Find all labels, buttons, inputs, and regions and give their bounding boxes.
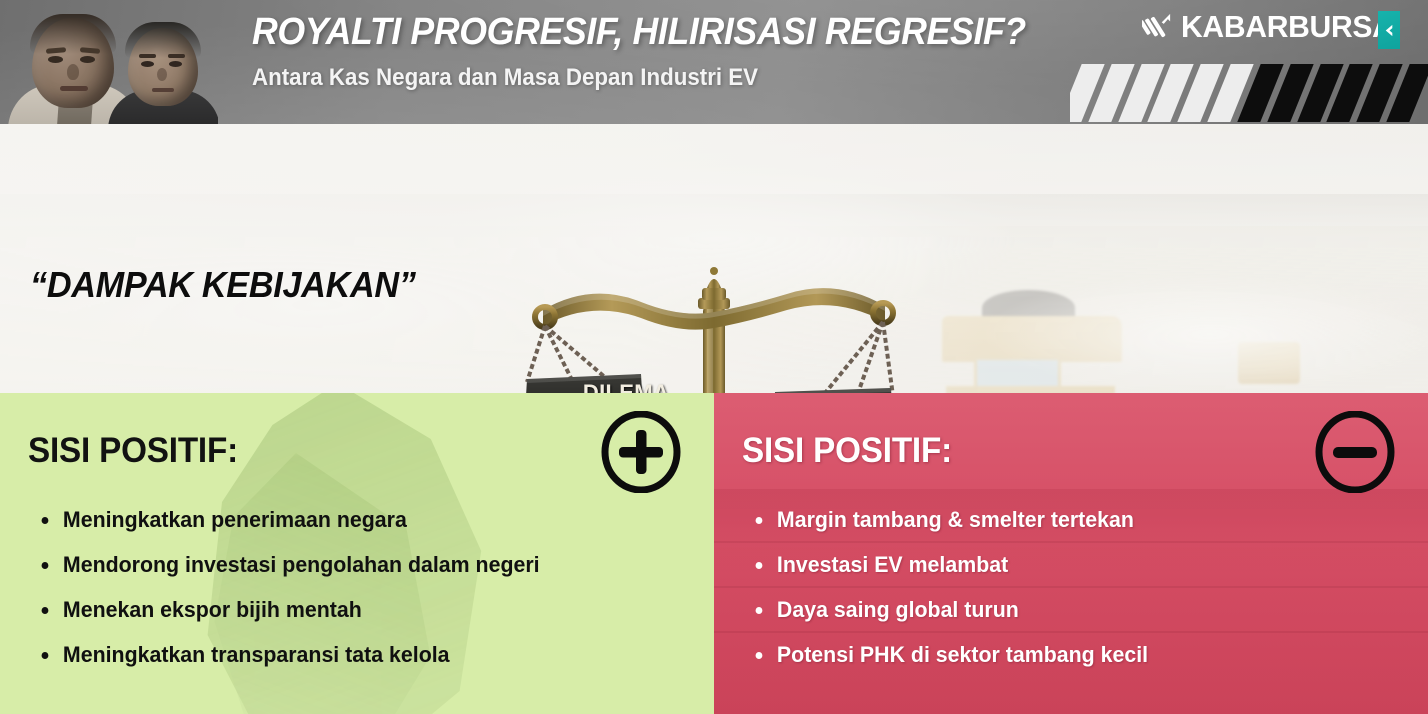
infographic-root: ROYALTI PROGRESIF, HILIRISASI REGRESIF? … xyxy=(0,0,1428,714)
header-band: ROYALTI PROGRESIF, HILIRISASI REGRESIF? … xyxy=(0,0,1428,124)
portrait-official-two xyxy=(112,6,214,124)
comparison-panels: SISI POSITIF: Meningkatkan penerimaan ne… xyxy=(0,393,1428,714)
balance-scale-icon: DILEMA FISKAL DAYA SAING xyxy=(521,264,907,393)
list-item: Investasi EV melambat xyxy=(742,552,1378,578)
plus-circle-icon xyxy=(600,411,682,493)
chevron-left-icon xyxy=(1382,23,1397,38)
list-item: Menekan ekspor bijih mentah xyxy=(28,597,664,623)
list-item: Potensi PHK di sektor tambang kecil xyxy=(742,642,1378,668)
panel-negative-bullets: Margin tambang & smelter tertekan Invest… xyxy=(742,507,1398,668)
panel-negative: SISI POSITIF: Margin tambang & smelter t… xyxy=(714,393,1428,714)
scale-left-pan-label: DILEMA FISKAL xyxy=(556,382,696,393)
panel-negative-heading: SISI POSITIF: xyxy=(742,431,1365,471)
list-item: Meningkatkan penerimaan negara xyxy=(28,507,664,533)
scale-left-line-1: DILEMA xyxy=(556,382,696,393)
brand-name: KABARBURSA xyxy=(1181,9,1394,45)
list-item: Meningkatkan transparansi tata kelola xyxy=(28,642,664,668)
minus-circle-icon xyxy=(1314,411,1396,493)
panel-positive-heading: SISI POSITIF: xyxy=(28,431,651,471)
portraits-group xyxy=(0,0,218,124)
section-quote: “DAMPAK KEBIJAKAN” xyxy=(30,264,416,306)
kabarbursa-arrow-bars-icon xyxy=(1142,12,1172,42)
list-item: Margin tambang & smelter tertekan xyxy=(742,507,1378,533)
brand-logo[interactable]: KABARBURSA xyxy=(1142,9,1400,45)
brand-chip[interactable] xyxy=(1378,11,1400,49)
middle-band: “DAMPAK KEBIJAKAN” xyxy=(0,124,1428,393)
page-title: ROYALTI PROGRESIF, HILIRISASI REGRESIF? xyxy=(252,10,976,56)
header-titles: ROYALTI PROGRESIF, HILIRISASI REGRESIF? … xyxy=(252,10,1022,92)
panel-positive: SISI POSITIF: Meningkatkan penerimaan ne… xyxy=(0,393,714,714)
list-item: Daya saing global turun xyxy=(742,597,1378,623)
header-stripes xyxy=(1070,64,1428,122)
panel-positive-bullets: Meningkatkan penerimaan negara Mendorong… xyxy=(28,507,684,668)
list-item: Mendorong investasi pengolahan dalam neg… xyxy=(28,552,664,578)
page-subtitle: Antara Kas Negara dan Masa Depan Industr… xyxy=(252,64,968,92)
